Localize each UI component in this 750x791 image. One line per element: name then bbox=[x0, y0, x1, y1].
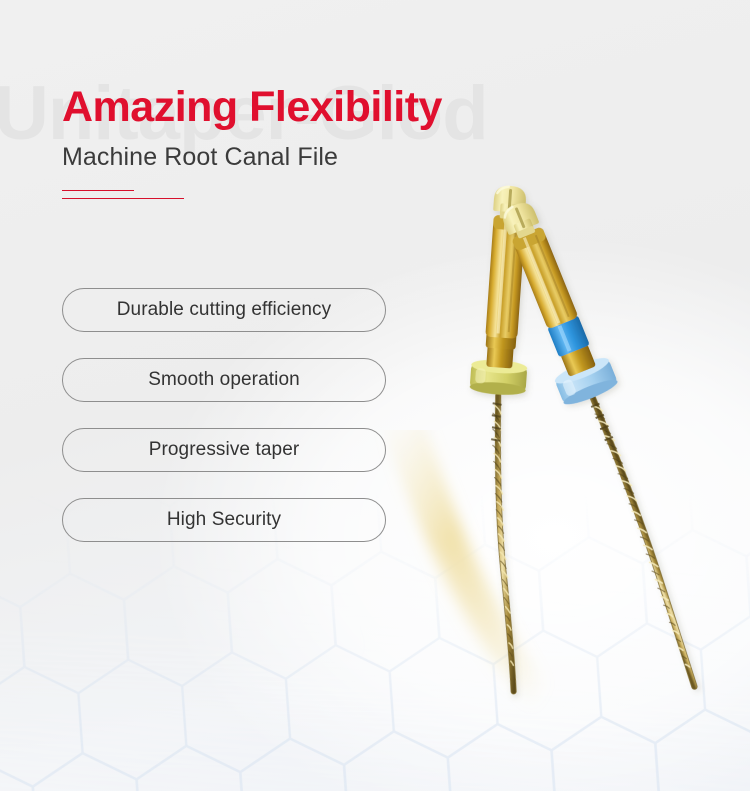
page-title: Amazing Flexibility bbox=[62, 84, 442, 131]
feature-pill-smooth-operation[interactable]: Smooth operation bbox=[62, 358, 386, 402]
feature-list: Durable cutting efficiency Smooth operat… bbox=[62, 288, 386, 542]
product-banner: Unitaper-Glod bbox=[0, 0, 750, 791]
feature-pill-high-security[interactable]: High Security bbox=[62, 498, 386, 542]
feature-pill-label: Progressive taper bbox=[149, 439, 300, 461]
feature-pill-label: Smooth operation bbox=[148, 369, 300, 391]
divider-line-short bbox=[62, 190, 134, 191]
divider-line-long bbox=[62, 198, 184, 199]
title-divider bbox=[62, 190, 242, 199]
feature-pill-label: Durable cutting efficiency bbox=[117, 299, 332, 321]
feature-pill-durable-cutting-efficiency[interactable]: Durable cutting efficiency bbox=[62, 288, 386, 332]
feature-pill-progressive-taper[interactable]: Progressive taper bbox=[62, 428, 386, 472]
page-subtitle: Machine Root Canal File bbox=[62, 143, 338, 172]
feature-pill-label: High Security bbox=[167, 509, 281, 531]
